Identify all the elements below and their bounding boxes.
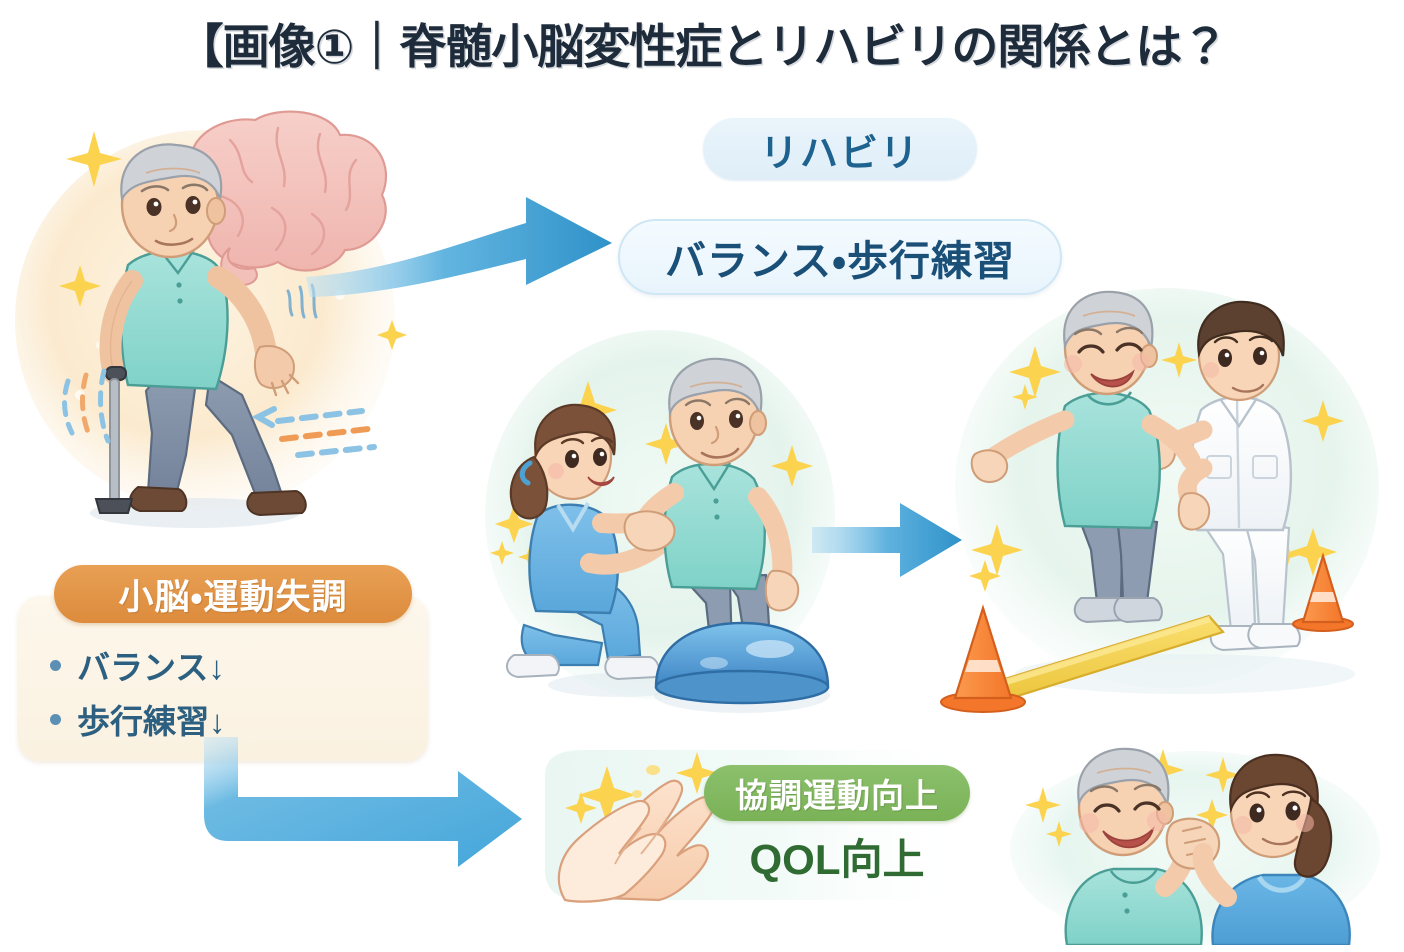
- pill-cerebellar-ataxia: 小脳・運動失調: [54, 565, 412, 623]
- right-scene-illustration: [935, 278, 1385, 728]
- page-title: 【画像①｜脊髄小脳変性症とリハビリの関係とは？: [177, 8, 1228, 77]
- arrow-left-to-rehab: [300, 185, 630, 310]
- ataxia-item-label: バランス↓: [77, 641, 225, 689]
- pill-rehabilitation: リハビリ: [703, 118, 977, 180]
- bullet-icon: [50, 660, 61, 671]
- scene-happy-patient-and-caregiver: [1005, 745, 1400, 945]
- pill-balance-gait-training: バランス・歩行練習: [618, 219, 1062, 295]
- title-bar: 【画像①｜脊髄小脳変性症とリハビリの関係とは？: [0, 8, 1404, 77]
- arrow-ataxia-to-qol: [120, 735, 540, 910]
- bottom-right-illustration: [1005, 745, 1400, 945]
- left-scene-illustration: [10, 95, 430, 565]
- bullet-icon: [50, 714, 61, 725]
- scene-elderly-man-with-cane: [10, 95, 430, 565]
- scene-gait-training-beam: [935, 278, 1385, 728]
- list-item: バランス↓: [50, 638, 226, 692]
- label-qol-improvement: QOL向上: [704, 826, 970, 887]
- pill-coordination-improvement: 協調運動向上: [704, 765, 970, 821]
- ataxia-symptom-list: バランス↓ 歩行練習↓: [50, 638, 226, 746]
